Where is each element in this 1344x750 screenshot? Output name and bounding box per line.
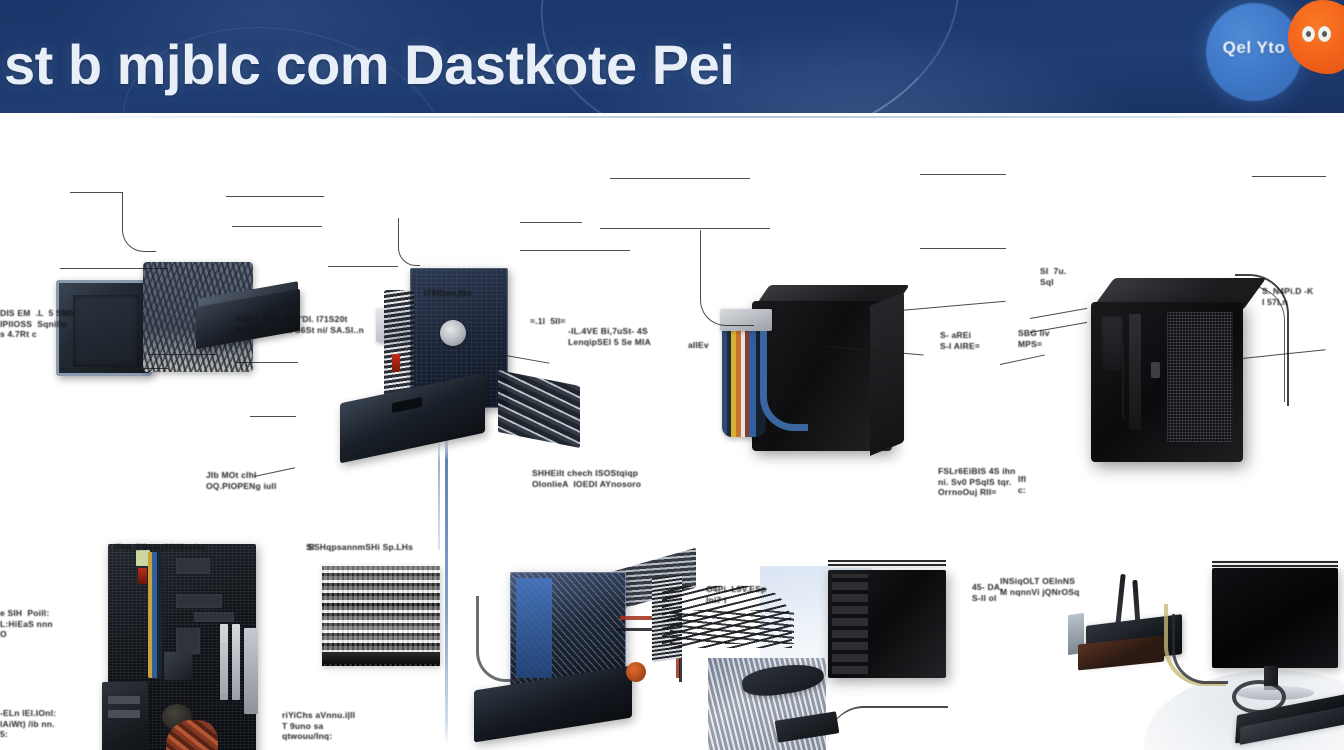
- callout-label: F.5r ? 7DIE 4S 'DI. I71S20t lanSEL E7nm …: [236, 314, 364, 335]
- photo-motherboard-detail: [92, 536, 282, 750]
- orange-connector: [626, 662, 646, 682]
- callout-label: e SIH Poill: L:HiEaS nnn O: [0, 608, 53, 640]
- callout-label: JIb MOt clhl OQ.PIOPENg iull: [206, 470, 277, 491]
- gray-cable: [476, 596, 520, 682]
- leader-line: [148, 354, 216, 355]
- leader-line: [232, 226, 322, 227]
- leader-line: [60, 368, 168, 369]
- callout-label: lfl c:: [1018, 474, 1026, 495]
- leader-line: [520, 222, 582, 223]
- psu-grille-2: [108, 710, 140, 718]
- drive-bay-strip: [1129, 314, 1141, 430]
- logo[interactable]: Qel Yto: [1184, 0, 1344, 106]
- chip-4: [176, 628, 200, 654]
- callout-label: lNSiqOLT OEInNS M nqnnVi jQNrOSq: [1000, 576, 1080, 597]
- callout-label: aIIEv: [688, 340, 709, 351]
- right-ribbon-cables: [498, 370, 580, 448]
- photo-mesh-front-black-case: [1075, 268, 1285, 483]
- leader-line: [70, 192, 122, 193]
- ram-slot-1: [220, 624, 228, 700]
- callout-label: iPnt. ESoqqSIUSonim: [114, 542, 206, 553]
- left-cable-bundle: [384, 290, 414, 396]
- chassis-front-face: [73, 295, 139, 367]
- leader-line: [328, 266, 398, 267]
- red-connector: [392, 354, 400, 372]
- mascot-pupil-right-icon: [1322, 31, 1327, 37]
- leader-line: [920, 174, 1006, 175]
- drive-bay-upper: [1101, 316, 1123, 372]
- chip-3: [194, 612, 234, 622]
- leader-line: [122, 192, 156, 252]
- colored-cable-strip: [148, 552, 162, 678]
- leader-line: [700, 230, 754, 326]
- leader-line: [1122, 344, 1124, 418]
- chip-2: [176, 594, 222, 608]
- leader-line: [520, 250, 630, 251]
- callout-label: 45- DA, S-ll ol: [972, 582, 1003, 603]
- leader-line: [1252, 176, 1326, 177]
- cpu-socket: [164, 652, 192, 680]
- leader-line: [226, 196, 324, 197]
- mesh-vent-panel: [1167, 312, 1233, 442]
- cpu-fan-icon: [440, 320, 466, 346]
- leader-line: [398, 218, 420, 266]
- psu-grille-1: [108, 696, 140, 704]
- power-button-icon[interactable]: [1151, 362, 1160, 378]
- case-top-ribbon: [828, 560, 946, 568]
- expansion-slot: [244, 628, 258, 714]
- monitor-screen: [1212, 568, 1338, 668]
- callout-label: S- aREi S-l AlRE=: [940, 330, 980, 351]
- leader-line: [1000, 354, 1045, 365]
- callout-label: -IL.4VE Bi,7uSt- 4S LenqipSEl 5 Se MIA: [568, 326, 651, 347]
- leader-line: [250, 416, 296, 417]
- callout-label: =.1l 5Il=: [530, 316, 566, 327]
- slim-case-drive-bays: [832, 574, 868, 674]
- leader-line: [610, 178, 750, 179]
- callout-label: SSHqpsannmSHi Sp.LHs: [308, 542, 413, 553]
- grayscale-image: [322, 566, 440, 666]
- callout-label: i75IDnn,llln: [424, 288, 472, 299]
- leader-line: [920, 248, 1006, 249]
- power-cord: [828, 706, 948, 742]
- photo-monitor-cards-and-cables: [1060, 558, 1330, 750]
- callout-label: O4Pi L5V,ESp lni7 I: [706, 584, 766, 605]
- callout-label: SHHEiIt chech ISOStqiqp OlonlieA IOEDl A…: [532, 468, 641, 489]
- callout-label: SI 7u. Sql: [1040, 266, 1066, 287]
- red-component: [138, 568, 147, 584]
- chip-1: [176, 558, 210, 574]
- mascot-pupil-left-icon: [1306, 31, 1311, 37]
- leader-line: [236, 362, 298, 363]
- callout-label: S. N4Pi.D -K l 57Ln: [1262, 286, 1314, 307]
- callout-label: -ELn lEl.IOnl: lAiWt) /ib nn. 5:: [0, 708, 56, 740]
- ram-slot-2: [232, 624, 240, 700]
- diagram-canvas: [0, 118, 1344, 750]
- page-title: st b mjblc com Dastkote Pei: [4, 32, 734, 97]
- blue-cable: [760, 331, 808, 431]
- callout-label: DIS EM .L 5 SMh IPIIOSS Sqnillu s 4.7Rt …: [0, 308, 75, 340]
- leader-line: [60, 268, 168, 269]
- callout-label: riYiChs aVnnu.i|ll T 9uno sa qtwouu/Inq:: [282, 710, 355, 742]
- blue-side-panel: [516, 578, 552, 678]
- page-header: st b mjblc com Dastkote Pei Qel Yto: [0, 0, 1344, 113]
- grayscale-image-band: [322, 652, 440, 664]
- antenna-1: [1115, 574, 1125, 626]
- callout-label: SBG liv MPS=: [1018, 328, 1050, 349]
- photo-grayscale-component: [322, 566, 448, 674]
- callout-label: FSLr6EiBIS 4S ihn ni. Sv0 PSqlS tqr. Orr…: [938, 466, 1016, 498]
- fanned-cable-bundle-secondary: [670, 610, 794, 644]
- case-side-panel: [870, 292, 904, 456]
- leader-line: [600, 228, 770, 229]
